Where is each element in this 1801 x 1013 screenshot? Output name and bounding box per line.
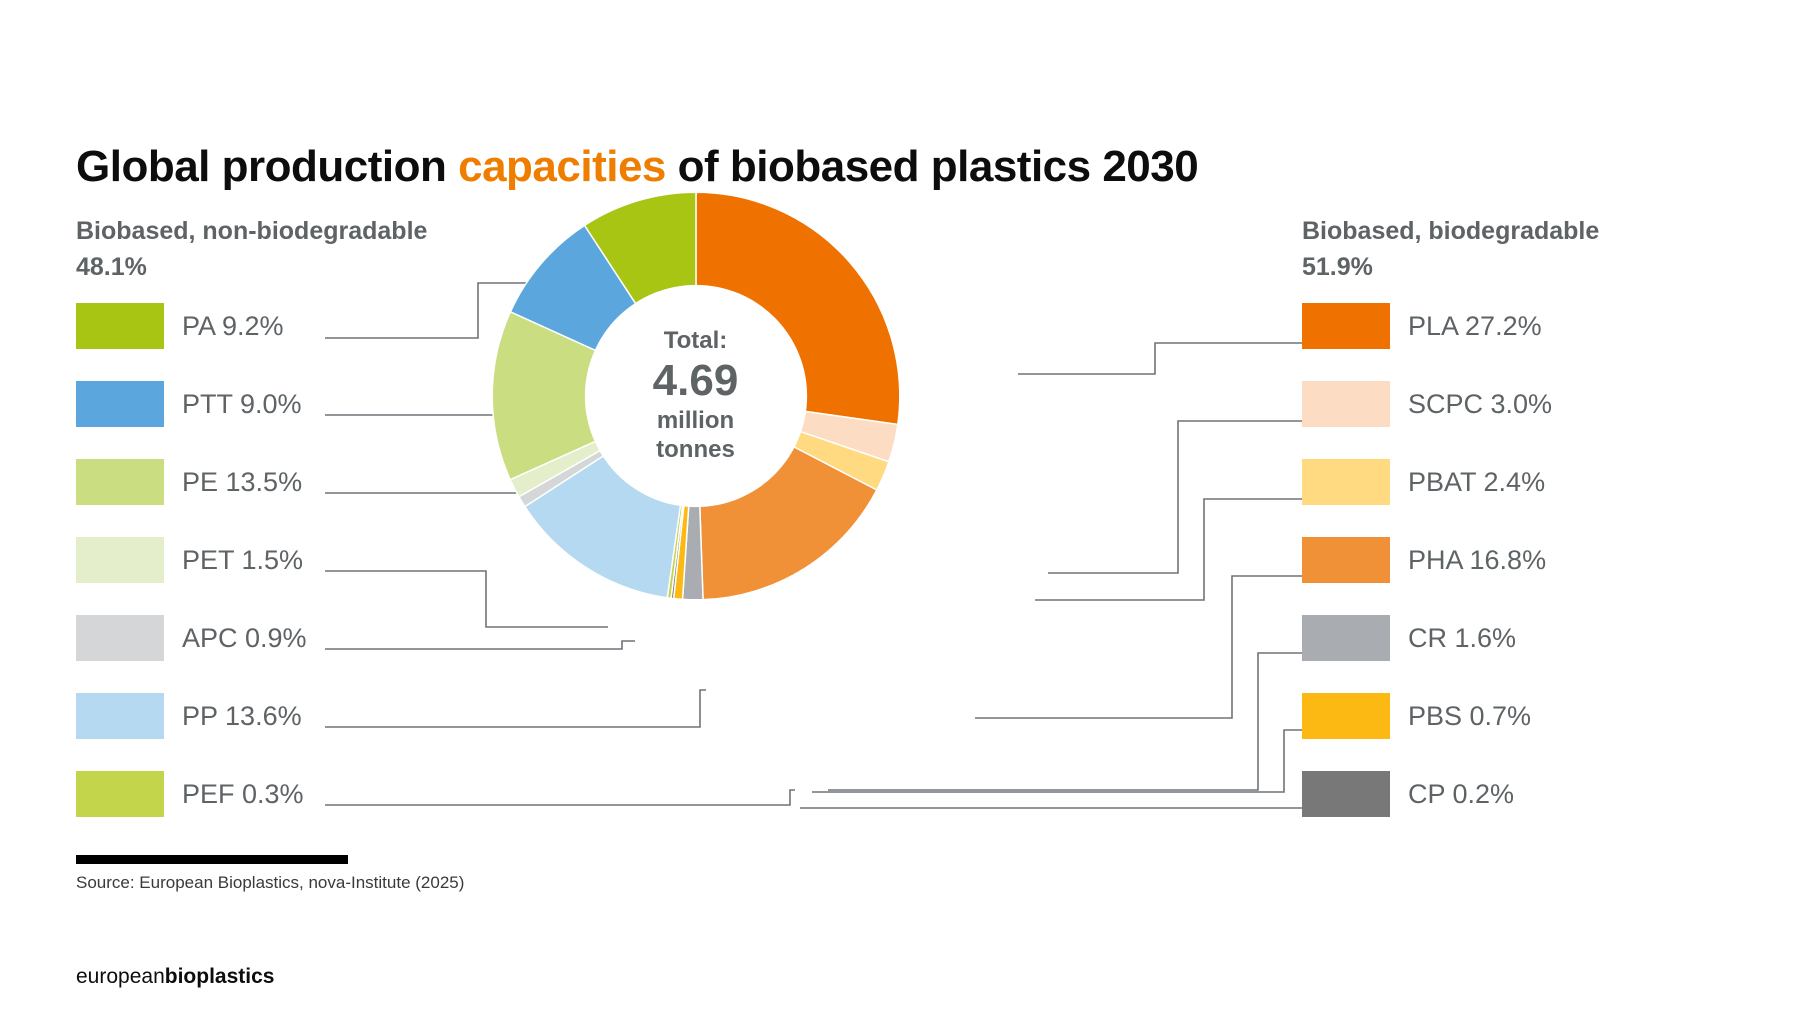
legend-left-percent: 48.1% bbox=[76, 250, 496, 286]
legend-item-scpc[interactable]: SCPC 3.0% bbox=[1302, 381, 1732, 427]
legend-swatch-pha bbox=[1302, 537, 1390, 583]
legend-item-cr[interactable]: CR 1.6% bbox=[1302, 615, 1732, 661]
legend-swatch-pp bbox=[76, 693, 164, 739]
legend-swatch-apc bbox=[76, 615, 164, 661]
donut-hole bbox=[585, 285, 807, 507]
legend-swatch-pa bbox=[76, 303, 164, 349]
leader-line-pla bbox=[1018, 343, 1302, 374]
legend-item-pef[interactable]: PEF 0.3% bbox=[76, 771, 496, 817]
leader-line-pbat bbox=[1035, 499, 1302, 600]
legend-item-pbat[interactable]: PBAT 2.4% bbox=[1302, 459, 1732, 505]
legend-label-ptt: PTT 9.0% bbox=[182, 389, 302, 420]
leader-line-scpc bbox=[1048, 421, 1302, 573]
legend-item-pla[interactable]: PLA 27.2% bbox=[1302, 303, 1732, 349]
legend-right-rows: PLA 27.2%SCPC 3.0%PBAT 2.4%PHA 16.8%CR 1… bbox=[1302, 303, 1732, 817]
legend-item-apc[interactable]: APC 0.9% bbox=[76, 615, 496, 661]
legend-right-percent: 51.9% bbox=[1302, 250, 1732, 286]
legend-label-pet: PET 1.5% bbox=[182, 545, 303, 576]
legend-swatch-scpc bbox=[1302, 381, 1390, 427]
legend-swatch-pe bbox=[76, 459, 164, 505]
legend-item-pbs[interactable]: PBS 0.7% bbox=[1302, 693, 1732, 739]
legend-label-pbat: PBAT 2.4% bbox=[1408, 467, 1545, 498]
legend-item-pe[interactable]: PE 13.5% bbox=[76, 459, 496, 505]
title-part-1: Global production bbox=[76, 142, 458, 191]
footer-rule bbox=[76, 855, 348, 864]
brand-bold-text: bioplastics bbox=[165, 965, 275, 988]
leader-line-pbs bbox=[812, 730, 1302, 792]
legend-swatch-pef bbox=[76, 771, 164, 817]
legend-left-heading-text: Biobased, non-biodegradable bbox=[76, 217, 427, 245]
legend-label-pha: PHA 16.8% bbox=[1408, 545, 1546, 576]
legend-non-biodegradable: Biobased, non-biodegradable 48.1% PA 9.2… bbox=[76, 214, 496, 817]
legend-label-cr: CR 1.6% bbox=[1408, 623, 1516, 654]
donut-chart bbox=[572, 272, 819, 519]
legend-biodegradable: Biobased, biodegradable 51.9% PLA 27.2%S… bbox=[1302, 214, 1732, 817]
brand-light-text: european bbox=[76, 965, 165, 988]
donut-svg bbox=[449, 149, 943, 643]
legend-left-heading: Biobased, non-biodegradable 48.1% bbox=[76, 214, 496, 285]
legend-right-heading-text: Biobased, biodegradable bbox=[1302, 217, 1599, 245]
infographic-canvas: Global production capacities of biobased… bbox=[0, 0, 1801, 1013]
legend-right-heading: Biobased, biodegradable 51.9% bbox=[1302, 214, 1732, 285]
source-note: Source: European Bioplastics, nova-Insti… bbox=[76, 873, 464, 893]
legend-label-apc: APC 0.9% bbox=[182, 623, 307, 654]
legend-label-pp: PP 13.6% bbox=[182, 701, 302, 732]
legend-label-pbs: PBS 0.7% bbox=[1408, 701, 1531, 732]
legend-swatch-cr bbox=[1302, 615, 1390, 661]
legend-item-ptt[interactable]: PTT 9.0% bbox=[76, 381, 496, 427]
leader-line-pha bbox=[975, 576, 1302, 718]
legend-label-pa: PA 9.2% bbox=[182, 311, 284, 342]
brand-logo: europeanbioplastics bbox=[76, 965, 274, 989]
legend-swatch-pbat bbox=[1302, 459, 1390, 505]
legend-item-cp[interactable]: CP 0.2% bbox=[1302, 771, 1732, 817]
leader-line-cr bbox=[828, 653, 1302, 790]
legend-item-pet[interactable]: PET 1.5% bbox=[76, 537, 496, 583]
legend-label-cp: CP 0.2% bbox=[1408, 779, 1514, 810]
legend-swatch-pla bbox=[1302, 303, 1390, 349]
legend-swatch-cp bbox=[1302, 771, 1390, 817]
legend-swatch-ptt bbox=[76, 381, 164, 427]
legend-label-scpc: SCPC 3.0% bbox=[1408, 389, 1552, 420]
legend-label-pla: PLA 27.2% bbox=[1408, 311, 1542, 342]
legend-item-pa[interactable]: PA 9.2% bbox=[76, 303, 496, 349]
legend-swatch-pet bbox=[76, 537, 164, 583]
legend-label-pe: PE 13.5% bbox=[182, 467, 302, 498]
legend-left-rows: PA 9.2%PTT 9.0%PE 13.5%PET 1.5%APC 0.9%P… bbox=[76, 303, 496, 817]
legend-item-pp[interactable]: PP 13.6% bbox=[76, 693, 496, 739]
legend-swatch-pbs bbox=[1302, 693, 1390, 739]
legend-item-pha[interactable]: PHA 16.8% bbox=[1302, 537, 1732, 583]
legend-label-pef: PEF 0.3% bbox=[182, 779, 304, 810]
